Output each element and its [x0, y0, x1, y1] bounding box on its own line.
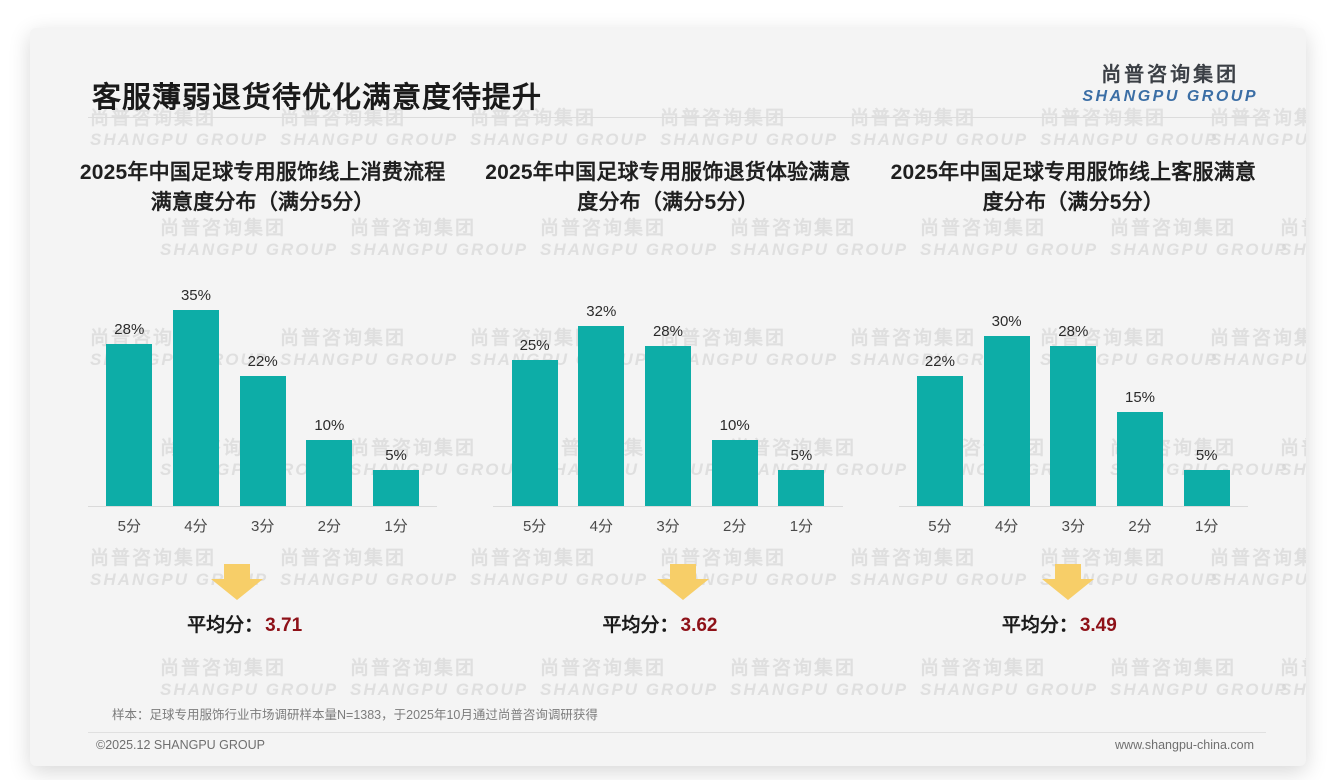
- average-score-text: 平均分：3.62: [457, 610, 862, 637]
- axis-baseline: [88, 506, 437, 507]
- bar[interactable]: [1184, 470, 1230, 506]
- bar-column[interactable]: 22%: [231, 278, 294, 506]
- average-label: 平均分：: [602, 615, 678, 636]
- bar[interactable]: [984, 336, 1030, 506]
- down-arrow-icon: [656, 562, 710, 602]
- bar-value-label: 22%: [248, 353, 278, 370]
- axis-tick-label: 1分: [770, 515, 833, 536]
- axis-tick-label: 2分: [703, 515, 766, 536]
- bar[interactable]: [306, 440, 352, 506]
- axis-tick-label: 5分: [503, 515, 566, 536]
- charts-container: 2025年中国足球专用服饰线上消费流程满意度分布（满分5分） 28% 35% 2…: [60, 158, 1276, 678]
- bar[interactable]: [173, 310, 219, 506]
- axis-tick-label: 2分: [1109, 515, 1172, 536]
- bar-value-label: 15%: [1125, 389, 1155, 406]
- watermark-text: 尚普咨询集团SHANGPU GROUP: [1280, 658, 1306, 699]
- bar-value-label: 28%: [114, 321, 144, 338]
- chart-plot-area: 22% 30% 28% 15%: [909, 258, 1238, 528]
- chart-title: 2025年中国足球专用服饰退货体验满意度分布（满分5分）: [465, 158, 870, 222]
- chart-plot-area: 28% 35% 22% 10%: [98, 258, 427, 528]
- axis-tick-label: 4分: [570, 515, 633, 536]
- bar[interactable]: [778, 470, 824, 506]
- axis-category-labels: 5分 4分 3分 2分 1分: [503, 515, 832, 536]
- bar-value-label: 30%: [992, 313, 1022, 330]
- bar[interactable]: [106, 344, 152, 506]
- bar-group: 25% 32% 28% 10%: [503, 278, 832, 506]
- axis-baseline: [493, 506, 842, 507]
- bar-column[interactable]: 10%: [298, 278, 361, 506]
- chart-title: 2025年中国足球专用服饰线上消费流程满意度分布（满分5分）: [60, 158, 465, 222]
- copyright-text: ©2025.12 SHANGPU GROUP: [96, 738, 265, 752]
- bar-value-label: 5%: [385, 447, 407, 464]
- bar-column[interactable]: 30%: [975, 278, 1038, 506]
- bar-value-label: 25%: [520, 337, 550, 354]
- axis-tick-label: 4分: [165, 515, 228, 536]
- average-label: 平均分：: [1002, 615, 1078, 636]
- bar-column[interactable]: 10%: [703, 278, 766, 506]
- chart-panel-return-experience: 2025年中国足球专用服饰退货体验满意度分布（满分5分） 25% 32% 28%: [465, 158, 870, 678]
- watermark-text: 尚普咨询集团SHANGPU GROUP: [1280, 218, 1306, 259]
- bar-column[interactable]: 15%: [1109, 278, 1172, 506]
- average-callout: 平均分：3.62: [465, 562, 870, 672]
- bar-column[interactable]: 22%: [909, 278, 972, 506]
- bar-value-label: 22%: [925, 353, 955, 370]
- axis-tick-label: 5分: [98, 515, 161, 536]
- bar[interactable]: [240, 376, 286, 506]
- bar-column[interactable]: 5%: [770, 278, 833, 506]
- bar-group: 28% 35% 22% 10%: [98, 278, 427, 506]
- website-link[interactable]: www.shangpu-china.com: [1115, 738, 1254, 752]
- bar-value-label: 10%: [314, 417, 344, 434]
- chart-panel-consumption-flow: 2025年中国足球专用服饰线上消费流程满意度分布（满分5分） 28% 35% 2…: [60, 158, 465, 678]
- bar-column[interactable]: 5%: [1175, 278, 1238, 506]
- bar-column[interactable]: 35%: [165, 278, 228, 506]
- axis-baseline: [899, 506, 1248, 507]
- axis-category-labels: 5分 4分 3分 2分 1分: [909, 515, 1238, 536]
- bar-value-label: 5%: [1196, 447, 1218, 464]
- bar[interactable]: [578, 326, 624, 506]
- average-score-text: 平均分：3.49: [857, 610, 1262, 637]
- bar-column[interactable]: 28%: [637, 278, 700, 506]
- bar-value-label: 28%: [653, 323, 683, 340]
- down-arrow-icon: [1041, 562, 1095, 602]
- bar-group: 22% 30% 28% 15%: [909, 278, 1238, 506]
- watermark-text: 尚普咨询集团SHANGPU GROUP: [1280, 438, 1306, 479]
- average-label: 平均分：: [187, 615, 263, 636]
- axis-tick-label: 3分: [637, 515, 700, 536]
- axis-tick-label: 1分: [1175, 515, 1238, 536]
- slide-card: 尚普咨询集团SHANGPU GROUP尚普咨询集团SHANGPU GROUP尚普…: [30, 28, 1306, 766]
- bar[interactable]: [712, 440, 758, 506]
- bar-value-label: 35%: [181, 287, 211, 304]
- bar-value-label: 32%: [586, 303, 616, 320]
- axis-tick-label: 3分: [231, 515, 294, 536]
- axis-tick-label: 3分: [1042, 515, 1105, 536]
- axis-tick-label: 4分: [975, 515, 1038, 536]
- bar-column[interactable]: 28%: [98, 278, 161, 506]
- bar-value-label: 28%: [1058, 323, 1088, 340]
- bar[interactable]: [512, 360, 558, 506]
- logo-chinese-text: 尚普咨询集团: [1082, 64, 1258, 86]
- bar-column[interactable]: 28%: [1042, 278, 1105, 506]
- bar[interactable]: [645, 346, 691, 506]
- axis-tick-label: 2分: [298, 515, 361, 536]
- chart-title: 2025年中国足球专用服饰线上客服满意度分布（满分5分）: [871, 158, 1276, 222]
- average-callout: 平均分：3.71: [60, 562, 465, 672]
- slide-header: 客服薄弱退货待优化满意度待提升 尚普咨询集团 SHANGPU GROUP: [30, 28, 1306, 116]
- chart-panel-online-service: 2025年中国足球专用服饰线上客服满意度分布（满分5分） 22% 30% 28%: [871, 158, 1276, 678]
- bar-column[interactable]: 5%: [365, 278, 428, 506]
- average-score-value: 3.62: [681, 615, 718, 636]
- average-score-text: 平均分：3.71: [42, 610, 447, 637]
- bar[interactable]: [373, 470, 419, 506]
- bar-column[interactable]: 32%: [570, 278, 633, 506]
- header-divider: [88, 117, 1266, 118]
- bar[interactable]: [1117, 412, 1163, 506]
- axis-category-labels: 5分 4分 3分 2分 1分: [98, 515, 427, 536]
- logo-english-text: SHANGPU GROUP: [1082, 88, 1258, 106]
- bar-value-label: 5%: [791, 447, 813, 464]
- chart-plot-area: 25% 32% 28% 10%: [503, 258, 832, 528]
- axis-tick-label: 1分: [365, 515, 428, 536]
- page-title: 客服薄弱退货待优化满意度待提升: [92, 74, 542, 116]
- average-callout: 平均分：3.49: [871, 562, 1276, 672]
- footer-bar: ©2025.12 SHANGPU GROUP www.shangpu-china…: [30, 730, 1306, 766]
- bar-value-label: 10%: [720, 417, 750, 434]
- average-score-value: 3.49: [1080, 615, 1117, 636]
- brand-logo: 尚普咨询集团 SHANGPU GROUP: [1082, 64, 1258, 106]
- average-score-value: 3.71: [265, 615, 302, 636]
- axis-tick-label: 5分: [909, 515, 972, 536]
- bar[interactable]: [917, 376, 963, 506]
- bar-column[interactable]: 25%: [503, 278, 566, 506]
- down-arrow-icon: [210, 562, 264, 602]
- sample-footnote: 样本：足球专用服饰行业市场调研样本量N=1383，于2025年10月通过尚普咨询…: [112, 704, 598, 723]
- bar[interactable]: [1050, 346, 1096, 506]
